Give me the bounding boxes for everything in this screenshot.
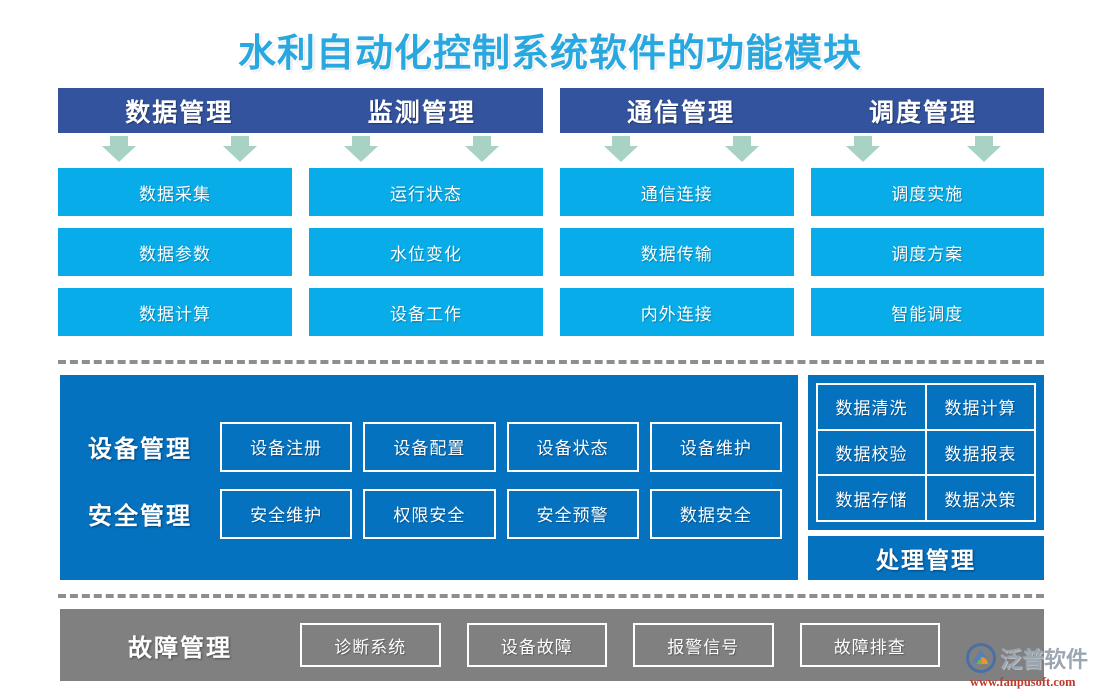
group-header-dispatch-management[interactable]: 调度管理 [802,88,1044,133]
module-box[interactable]: 设备工作 [309,288,543,336]
module-box[interactable]: 数据校验 [816,429,927,477]
module-box[interactable]: 设备注册 [220,422,352,472]
group-header-bar-right: 通信管理 调度管理 [560,88,1044,133]
arrow-cell [301,133,422,165]
brand-logo-row: 泛普软件 [966,642,1094,674]
arrow-cell [923,133,1044,165]
down-arrow-icon [604,136,638,162]
module-box[interactable]: 调度方案 [811,228,1045,276]
module-box[interactable]: 数据计算 [925,383,1036,431]
arrow-cell [58,133,179,165]
row-label: 设备管理 [60,429,220,464]
top-boxes-right: 通信连接 数据传输 内外连接 调度实施 调度方案 智能调度 [560,168,1044,336]
arrow-cell [422,133,543,165]
arrow-row-right [560,133,1044,165]
row-cells: 诊断系统 设备故障 报警信号 故障排查 [300,623,1044,667]
module-box[interactable]: 报警信号 [633,623,774,667]
down-arrow-icon [967,136,1001,162]
fault-management-panel: 故障管理 诊断系统 设备故障 报警信号 故障排查 [60,609,1044,681]
arrow-cell [681,133,802,165]
box-column-data-management: 数据采集 数据参数 数据计算 [58,168,292,336]
process-grid-row: 数据存储 数据决策 [817,475,1035,521]
down-arrow-icon [465,136,499,162]
module-box[interactable]: 数据传输 [560,228,794,276]
brand-url: www.fanpusoft.com [970,675,1094,690]
box-column-dispatch-management: 调度实施 调度方案 智能调度 [811,168,1045,336]
module-box[interactable]: 水位变化 [309,228,543,276]
brand-logo[interactable]: 泛普软件 www.fanpusoft.com [966,642,1094,694]
module-box[interactable]: 安全预警 [507,489,639,539]
module-box[interactable]: 智能调度 [811,288,1045,336]
arrow-row-left [58,133,543,165]
module-box[interactable]: 数据参数 [58,228,292,276]
module-box[interactable]: 诊断系统 [300,623,441,667]
row-cells: 安全维护 权限安全 安全预警 数据安全 [220,489,798,539]
down-arrow-icon [344,136,378,162]
module-box[interactable]: 设备状态 [507,422,639,472]
box-column-monitor-management: 运行状态 水位变化 设备工作 [309,168,543,336]
process-grid-row: 数据清洗 数据计算 [817,384,1035,430]
process-grid-rows: 数据清洗 数据计算 数据校验 数据报表 数据存储 数据决策 [817,384,1035,521]
diagram-canvas: 水利自动化控制系统软件的功能模块 数据管理 监测管理 [0,0,1100,700]
down-arrow-icon [223,136,257,162]
arrow-cell [802,133,923,165]
page-title: 水利自动化控制系统软件的功能模块 [0,22,1100,77]
top-group-right: 通信管理 调度管理 通信连接 数据传输 [560,88,1044,340]
module-box[interactable]: 运行状态 [309,168,543,216]
module-box[interactable]: 数据存储 [816,474,927,522]
process-grid-row: 数据校验 数据报表 [817,430,1035,476]
middle-row-device-management: 设备管理 设备注册 设备配置 设备状态 设备维护 [60,413,798,480]
module-box[interactable]: 数据决策 [925,474,1036,522]
fanpu-swoosh-icon [966,643,996,673]
module-box[interactable]: 数据采集 [58,168,292,216]
brand-name: 泛普软件 [1000,642,1088,674]
down-arrow-icon [846,136,880,162]
top-tier: 数据管理 监测管理 数据采集 数据参数 [58,88,1044,340]
process-management-grid: 数据清洗 数据计算 数据校验 数据报表 数据存储 数据决策 [808,375,1044,530]
module-box[interactable]: 数据计算 [58,288,292,336]
box-column-communication-management: 通信连接 数据传输 内外连接 [560,168,794,336]
module-box[interactable]: 设备配置 [363,422,495,472]
module-box[interactable]: 设备故障 [467,623,608,667]
row-cells: 设备注册 设备配置 设备状态 设备维护 [220,422,798,472]
module-box[interactable]: 设备维护 [650,422,782,472]
group-header-communication-management[interactable]: 通信管理 [560,88,802,133]
module-box[interactable]: 调度实施 [811,168,1045,216]
middle-tier-panel: 设备管理 设备注册 设备配置 设备状态 设备维护 安全管理 安全维护 权限安全 … [60,375,798,580]
module-box[interactable]: 安全维护 [220,489,352,539]
arrow-cell [179,133,300,165]
module-box[interactable]: 数据报表 [925,429,1036,477]
row-label: 故障管理 [60,628,300,663]
section-divider-upper [58,360,1044,364]
process-management-label: 处理管理 [808,536,1044,580]
group-header-data-management[interactable]: 数据管理 [58,88,301,133]
module-box[interactable]: 数据安全 [650,489,782,539]
down-arrow-icon [725,136,759,162]
top-group-left: 数据管理 监测管理 数据采集 数据参数 [58,88,543,340]
arrow-cell [560,133,681,165]
top-boxes-left: 数据采集 数据参数 数据计算 运行状态 水位变化 设备工作 [58,168,543,336]
module-box[interactable]: 权限安全 [363,489,495,539]
section-divider-lower [58,594,1044,598]
group-header-monitor-management[interactable]: 监测管理 [301,88,544,133]
module-box[interactable]: 通信连接 [560,168,794,216]
down-arrow-icon [102,136,136,162]
row-label: 安全管理 [60,496,220,531]
middle-tier-rows: 设备管理 设备注册 设备配置 设备状态 设备维护 安全管理 安全维护 权限安全 … [60,413,798,547]
module-box[interactable]: 故障排查 [800,623,941,667]
middle-row-security-management: 安全管理 安全维护 权限安全 安全预警 数据安全 [60,480,798,547]
module-box[interactable]: 数据清洗 [816,383,927,431]
group-header-bar-left: 数据管理 监测管理 [58,88,543,133]
module-box[interactable]: 内外连接 [560,288,794,336]
